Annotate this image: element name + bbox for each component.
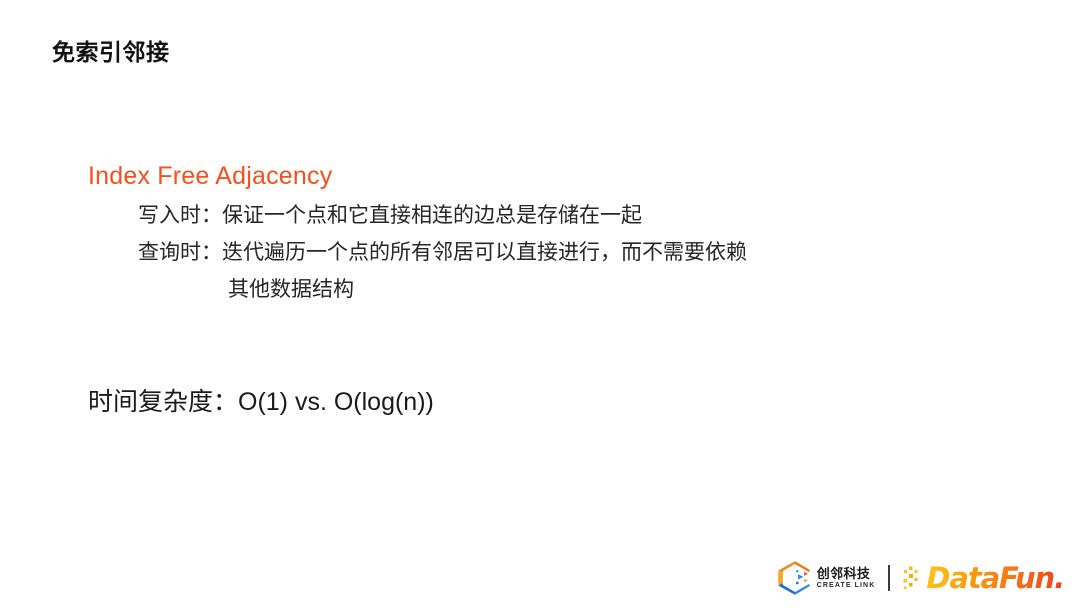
datafun-logo: DataFun.	[903, 564, 1064, 593]
create-link-name-en: CREATE LINK	[817, 582, 876, 589]
content-block: Index Free Adjacency 写入时：保证一个点和它直接相连的边总是…	[88, 160, 1008, 314]
create-link-logo: 创邻科技 CREATE LINK	[776, 559, 876, 597]
slide-canvas: 免索引邻接 Index Free Adjacency 写入时：保证一个点和它直接…	[0, 0, 1080, 608]
logo-divider	[888, 565, 890, 591]
datafun-wordmark: DataFun.	[926, 564, 1064, 593]
create-link-wordmark: 创邻科技 CREATE LINK	[817, 567, 876, 589]
page-title: 免索引邻接	[52, 38, 170, 68]
create-link-name-cn: 创邻科技	[817, 567, 876, 580]
datafun-dots-icon	[903, 565, 925, 591]
bullet-query-time-continuation: 其他数据结构	[88, 276, 1008, 304]
hexagon-c-logo-icon	[776, 559, 814, 597]
time-complexity-summary: 时间复杂度：O(1) vs. O(log(n))	[88, 386, 434, 420]
section-heading: Index Free Adjacency	[88, 160, 1008, 194]
bullet-query-time: 查询时：迭代遍历一个点的所有邻居可以直接进行，而不需要依赖	[88, 239, 1008, 267]
footer-logo-bar: 创邻科技 CREATE LINK DataFun.	[776, 558, 1064, 598]
bullet-write-time: 写入时：保证一个点和它直接相连的边总是存储在一起	[88, 202, 1008, 230]
